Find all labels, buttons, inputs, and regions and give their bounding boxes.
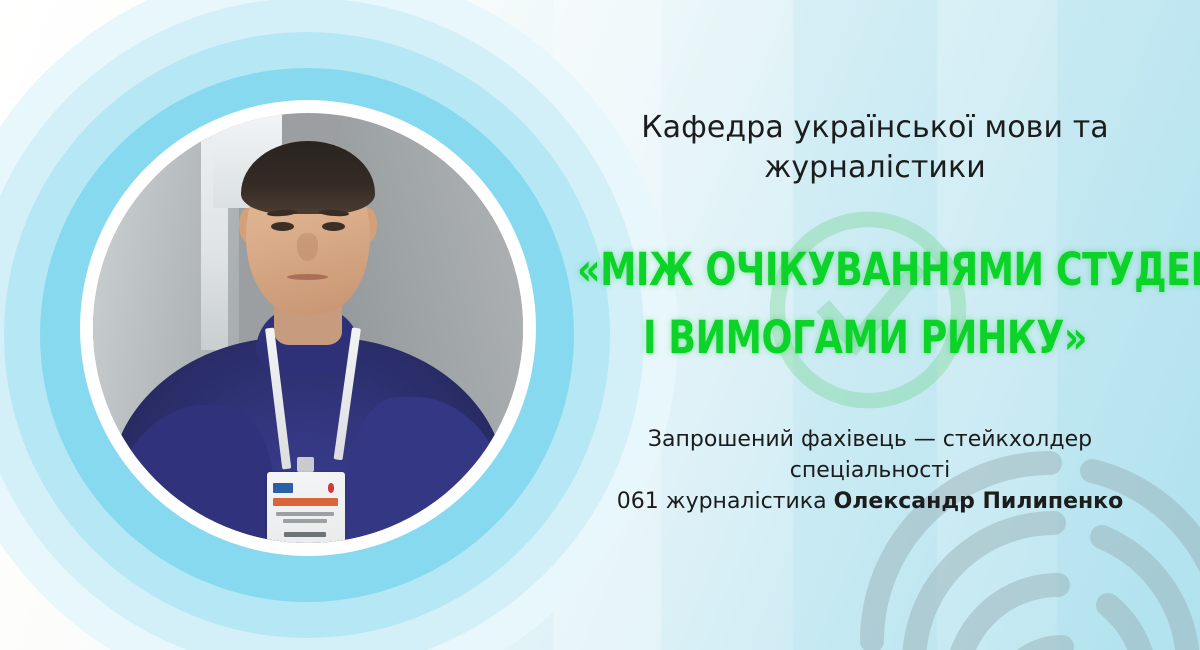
portrait-eye-right xyxy=(322,222,344,231)
speaker-name: Олександр Пилипенко xyxy=(834,489,1124,514)
subtitle: Запрошений фахівець — стейкхолдер спеціа… xyxy=(565,424,1175,518)
badge-accent-dot-icon xyxy=(328,483,335,492)
portrait-mouth xyxy=(287,274,328,280)
badge-logo-icon xyxy=(273,483,293,492)
slide-text-column: Кафедра української мови та журналістики… xyxy=(545,0,1185,650)
portrait-badge-clip xyxy=(297,457,314,472)
main-title-line-2: І ВИМОГАМИ РИНКУ» xyxy=(577,304,1153,372)
badge-text-line-2 xyxy=(283,519,328,522)
subtitle-line-2-prefix: 061 журналістика xyxy=(617,489,834,514)
portrait-name-badge xyxy=(267,472,344,543)
badge-color-bar xyxy=(273,498,338,506)
subtitle-line-1: Запрошений фахівець — стейкхолдер спеціа… xyxy=(648,427,1092,483)
badge-text-line-1 xyxy=(276,512,333,515)
main-title: «МІЖ ОЧІКУВАННЯМИ СТУДЕНТІВ І ВИМОГАМИ Р… xyxy=(577,236,1153,373)
badge-name-line-1 xyxy=(284,532,326,537)
presentation-slide: Кафедра української мови та журналістики… xyxy=(0,0,1200,650)
department-title: Кафедра української мови та журналістики xyxy=(595,108,1155,188)
speaker-portrait xyxy=(93,113,523,543)
main-title-line-1: «МІЖ ОЧІКУВАННЯМИ СТУДЕНТІВ xyxy=(577,236,1153,304)
